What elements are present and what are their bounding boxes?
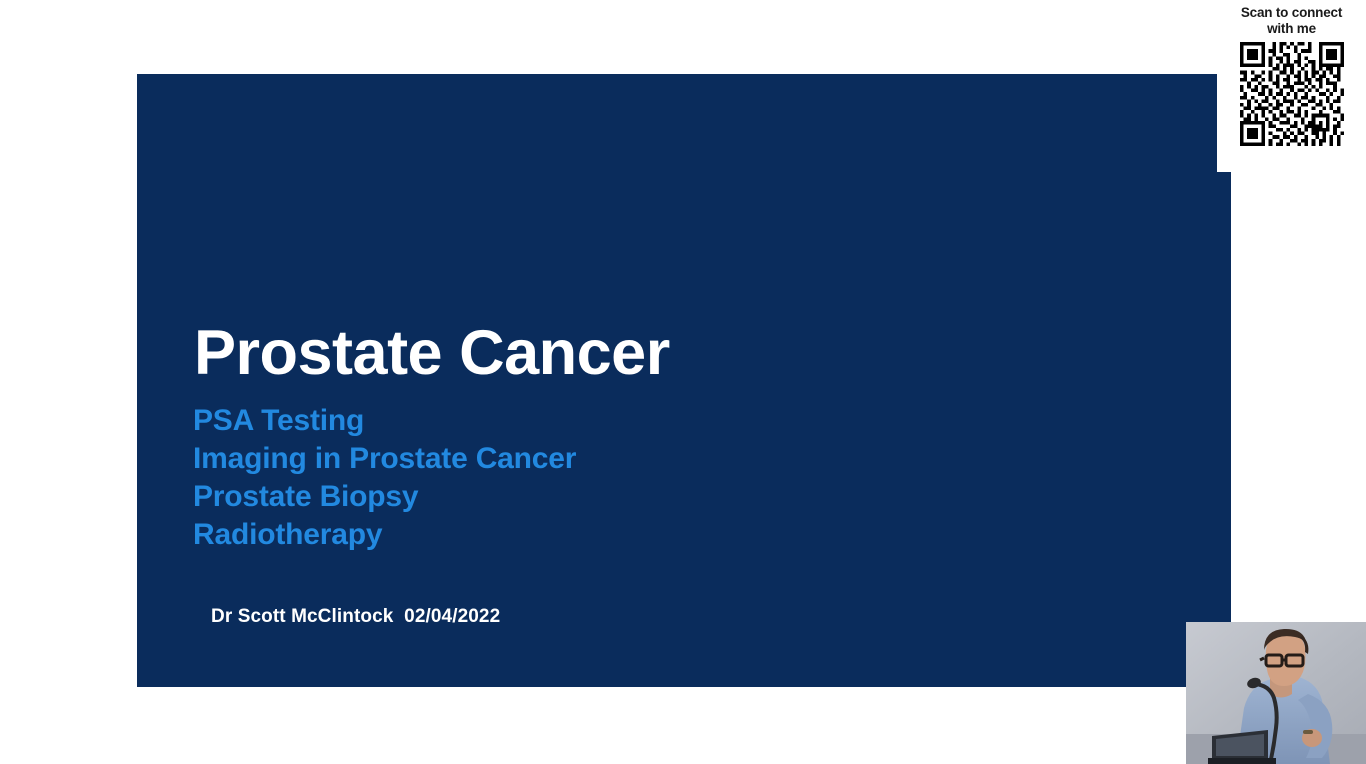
speaker-video-thumbnail[interactable] (1186, 622, 1366, 764)
screen: Prostate Cancer PSA Testing Imaging in P… (0, 0, 1366, 764)
slide-subtitle-list: PSA Testing Imaging in Prostate Cancer P… (193, 402, 576, 554)
slide-byline: Dr Scott McClintock 02/04/2022 (211, 606, 500, 628)
qr-caption-line-2: with me (1222, 21, 1362, 37)
slide-subtitle-item: Imaging in Prostate Cancer (193, 440, 576, 478)
slide-subtitle-item: Radiotherapy (193, 516, 576, 554)
slide-subtitle-item: PSA Testing (193, 402, 576, 440)
slide-subtitle-item: Prostate Biopsy (193, 478, 576, 516)
slide-title: Prostate Cancer (194, 322, 670, 385)
presentation-slide[interactable]: Prostate Cancer PSA Testing Imaging in P… (137, 74, 1231, 687)
speaker-video-icon (1186, 622, 1366, 764)
qr-code-icon[interactable] (1240, 42, 1344, 146)
qr-caption: Scan to connect with me (1222, 5, 1362, 37)
qr-caption-line-1: Scan to connect (1222, 5, 1362, 21)
qr-overlay-panel: Scan to connect with me (1217, 0, 1366, 172)
